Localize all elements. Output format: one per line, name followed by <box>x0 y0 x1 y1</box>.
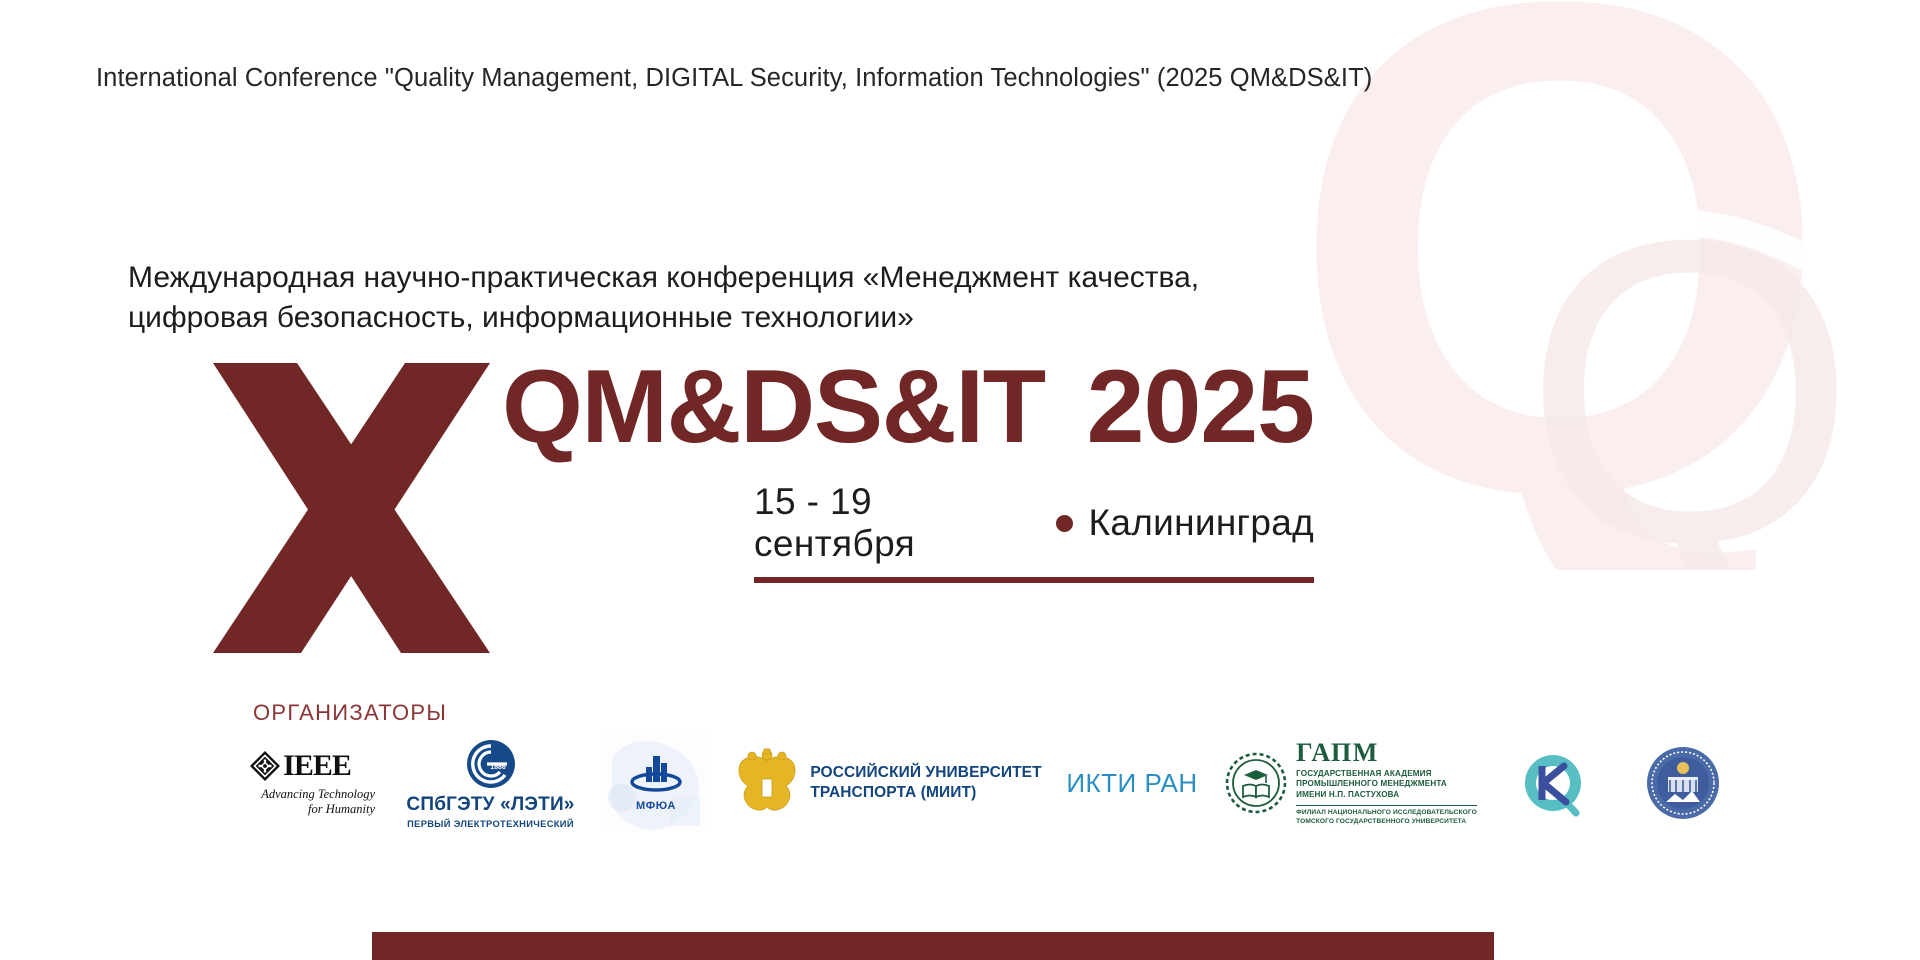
organiser-logo-ikti-ran: ИКТИ РАН <box>1052 728 1212 838</box>
organiser-logo-row: IEEE Advancing Technology for Humanity 1… <box>225 728 1725 838</box>
conference-city: Калининград <box>1089 502 1314 544</box>
kq-circle-icon <box>1518 748 1588 818</box>
mfua-card: МФЮА <box>602 734 710 832</box>
miit-wordmark-line-1: РОССИЙСКИЙ УНИВЕРСИТЕТ <box>810 763 1041 783</box>
ieee-lockup: IEEE <box>249 750 351 782</box>
organiser-logo-mfua: МФЮА <box>596 728 716 838</box>
svg-text:Q: Q <box>1523 152 1857 632</box>
organiser-logo-kq <box>1498 728 1608 838</box>
slide-header-text: International Conference "Quality Manage… <box>96 62 1372 95</box>
miit-wordmark: РОССИЙСКИЙ УНИВЕРСИТЕТ ТРАНСПОРТА (МИИТ) <box>810 763 1041 803</box>
gapm-affiliation-line-1: ФИЛИАЛ НАЦИОНАЛЬНОГО ИССЛЕДОВАТЕЛЬСКОГО <box>1296 809 1477 818</box>
gapm-subtitle: ГОСУДАРСТВЕННАЯ АКАДЕМИЯ ПРОМЫШЛЕННОГО М… <box>1296 769 1477 801</box>
gapm-subtitle-line-1: ГОСУДАРСТВЕННАЯ АКАДЕМИЯ <box>1296 769 1477 780</box>
university-seal-icon <box>1646 746 1720 820</box>
conference-title-line-2: цифровая безопасность, информационные те… <box>128 298 1288 338</box>
svg-text:Q: Q <box>1288 0 1832 639</box>
organiser-logo-miit: РОССИЙСКИЙ УНИВЕРСИТЕТ ТРАНСПОРТА (МИИТ) <box>744 728 1034 838</box>
conference-title: Международная научно-практическая конфер… <box>128 258 1288 338</box>
gapm-affiliation: ФИЛИАЛ НАЦИОНАЛЬНОГО ИССЛЕДОВАТЕЛЬСКОГО … <box>1296 809 1477 827</box>
ieee-diamond-icon <box>249 750 281 782</box>
organiser-logo-ieee: IEEE Advancing Technology for Humanity <box>225 728 375 838</box>
gapm-wordmark: ГАПМ <box>1296 740 1477 766</box>
organisers-label: ОРГАНИЗАТОРЫ <box>253 700 447 726</box>
ikti-ran-wordmark: ИКТИ РАН <box>1066 768 1197 799</box>
bullet-dot-icon <box>1056 515 1073 532</box>
ieee-wordmark: IEEE <box>283 751 351 781</box>
lockup-right-column: QM&DS&IT 2025 15 - 19 сентября Калинингр… <box>502 355 1314 583</box>
conference-title-line-1: Международная научно-практическая конфер… <box>128 258 1288 298</box>
gapm-subtitle-line-2: ПРОМЫШЛЕННОГО МЕНЕДЖМЕНТА <box>1296 779 1477 790</box>
gapm-divider <box>1296 805 1477 806</box>
svg-text:1886: 1886 <box>490 764 506 771</box>
watermark-q-decoration: Q Q <box>1260 0 1920 700</box>
roman-numeral-x-icon <box>205 363 490 653</box>
ieee-tagline-line-1: Advancing Technology <box>225 787 375 802</box>
gapm-subtitle-line-3: ИМЕНИ Н.П. ПАСТУХОВА <box>1296 790 1477 801</box>
mfua-wordmark: МФЮА <box>636 800 676 812</box>
organiser-logo-spbetu-leti: 1886 СПбГЭТУ «ЛЭТИ» ПЕРВЫЙ ЭЛЕКТРОТЕХНИЧ… <box>403 728 578 838</box>
gapm-affiliation-line-2: ТОМСКОГО ГОСУДАРСТВЕННОГО УНИВЕРСИТЕТА <box>1296 818 1477 827</box>
mfua-swoosh-icon <box>628 754 684 796</box>
wordmark-acronym: QM&DS&IT <box>502 355 1045 459</box>
conference-dates: 15 - 19 сентября <box>754 481 1034 565</box>
organiser-logo-gapm: ГАПМ ГОСУДАРСТВЕННАЯ АКАДЕМИЯ ПРОМЫШЛЕНН… <box>1226 728 1476 838</box>
gapm-text-block: ГАПМ ГОСУДАРСТВЕННАЯ АКАДЕМИЯ ПРОМЫШЛЕНН… <box>1296 740 1477 827</box>
organiser-logo-university-seal <box>1628 728 1738 838</box>
russian-eagle-icon <box>736 747 798 819</box>
wordmark-year: 2025 <box>1087 355 1314 459</box>
leti-wordmark: СПбГЭТУ «ЛЭТИ» <box>406 794 574 816</box>
ieee-tagline: Advancing Technology for Humanity <box>225 787 375 817</box>
miit-wordmark-line-2: ТРАНСПОРТА (МИИТ) <box>810 783 1041 803</box>
bottom-accent-bar <box>372 932 1494 960</box>
date-location-bar: 15 - 19 сентября Калининград <box>754 481 1314 583</box>
graduation-seal-icon <box>1225 752 1287 814</box>
wordmark: QM&DS&IT 2025 <box>502 355 1314 459</box>
ieee-tagline-line-2: for Humanity <box>225 802 375 817</box>
leti-tagline: ПЕРВЫЙ ЭЛЕКТРОТЕХНИЧЕСКИЙ <box>407 819 574 829</box>
conference-logo-lockup: QM&DS&IT 2025 15 - 19 сентября Калинингр… <box>205 355 1314 653</box>
leti-swirl-icon: 1886 <box>465 738 517 790</box>
